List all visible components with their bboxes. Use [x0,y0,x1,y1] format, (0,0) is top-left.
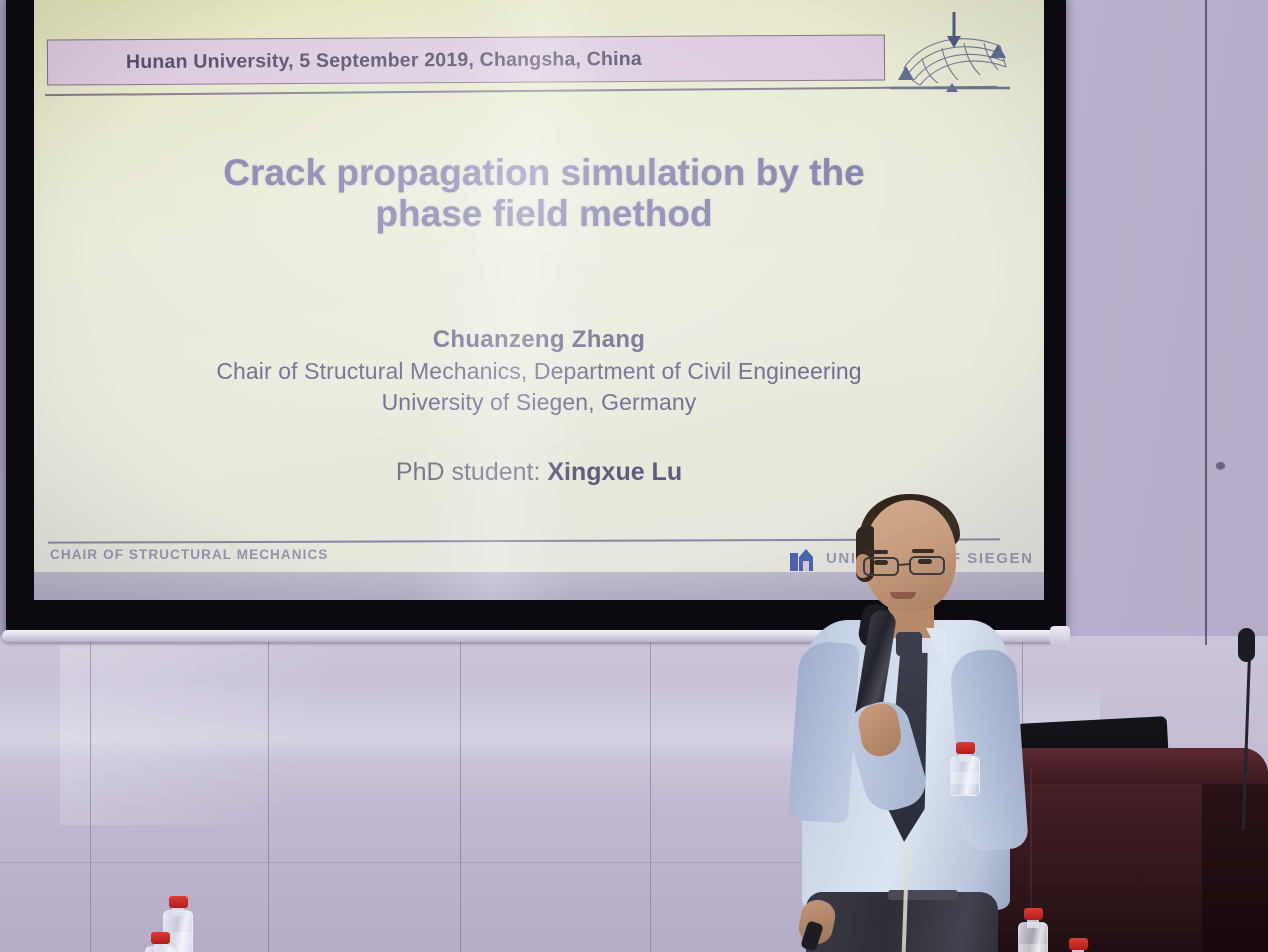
glasses-icon [860,550,960,576]
speaker-collar-right [926,628,946,668]
slide-title-line-1: Crack propagation simulation by the [94,152,994,193]
author-block: Chuanzeng Zhang Chair of Structural Mech… [64,326,1014,416]
phd-student-line: PhD student: Xingxue Lu [64,458,1014,487]
bottle-cap [956,742,975,754]
bottle-cap [169,896,188,908]
slide-header-banner: Hunan University, 5 September 2019, Chan… [47,34,885,85]
gooseneck-microphone-head [1238,628,1255,662]
podium-side-panel [1202,784,1268,952]
slide-header-text: Hunan University, 5 September 2019, Chan… [48,47,642,74]
speaker [760,492,1060,952]
bottle-cap [1024,908,1043,920]
wall-panel-seam [650,640,651,952]
affiliation-line-2: University of Siegen, Germany [64,389,1014,416]
wall-panel-seam [460,640,461,952]
curved-shell-mesh-icon [890,10,1010,92]
author-name: Chuanzeng Zhang [64,326,1014,354]
slide-title: Crack propagation simulation by the phas… [94,152,994,235]
slide-footer-left: CHAIR OF STRUCTURAL MECHANICS [50,547,328,562]
phd-student-prefix: PhD student: [396,458,547,486]
speaker-belt [888,890,958,900]
wall-panel-seam [268,640,269,952]
speaker-mouth [890,592,916,599]
wall-screw-dot [1216,462,1225,469]
slide-title-line-2: phase field method [94,193,994,234]
wall-panel-seam-right [1205,0,1207,645]
bottle-cap [151,932,170,944]
slide-header-rule [45,86,997,96]
affiliation-line-1: Chair of Structural Mechanics, Departmen… [64,358,1014,385]
conference-photo-scene: Hunan University, 5 September 2019, Chan… [0,0,1268,952]
bottle-cap [1069,938,1088,950]
wall-panel-seam [90,640,91,952]
phd-student-name: Xingxue Lu [547,458,682,486]
